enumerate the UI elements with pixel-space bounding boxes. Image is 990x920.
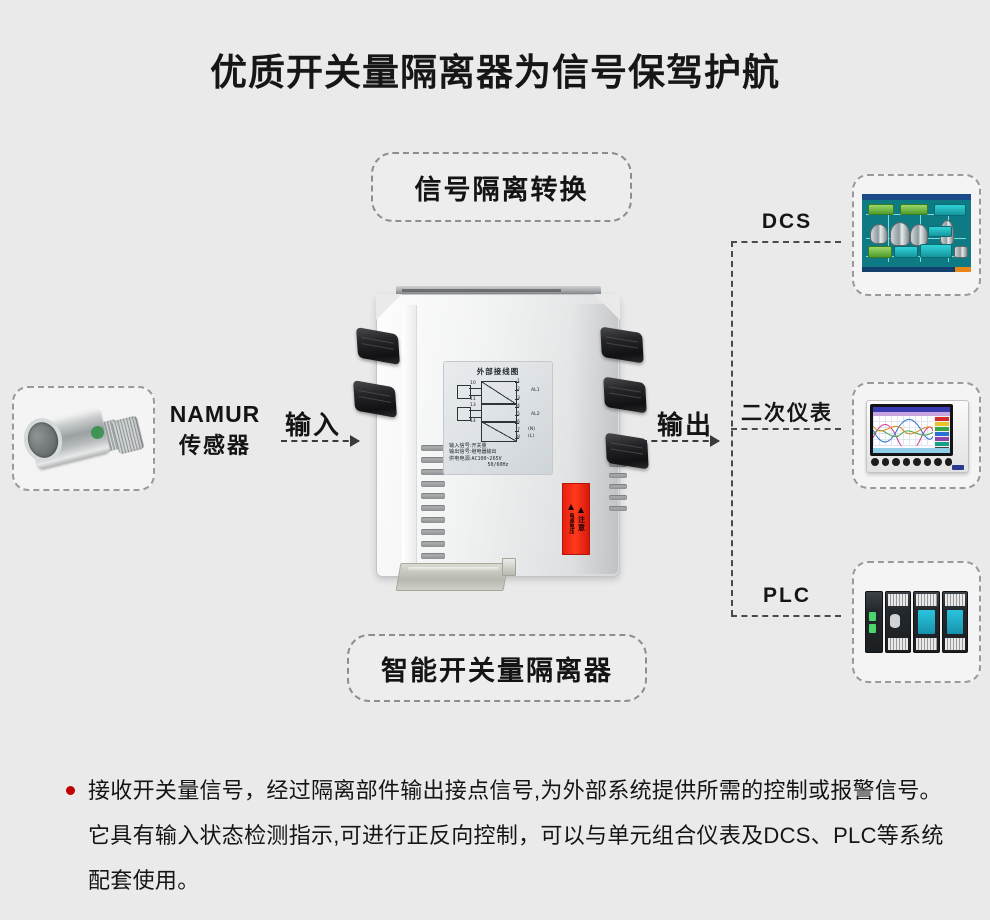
trend-curves-icon xyxy=(873,416,933,446)
isolator-device: 外部接线图 xyxy=(352,286,648,596)
dcs-statusbar xyxy=(862,267,971,272)
branch-line-plc xyxy=(731,615,841,617)
page-root: 优质开关量隔离器为信号保驾护航 信号隔离转换 智能开关量隔离器 NAMUR 传感… xyxy=(0,0,990,920)
arrow-head xyxy=(710,435,720,447)
output-arrow-icon xyxy=(641,440,719,442)
recorder-brand-badge xyxy=(952,465,964,470)
relay-box-1 xyxy=(481,381,517,405)
badge-signal-isolation-label: 信号隔离转换 xyxy=(415,168,589,207)
input-arrow-icon xyxy=(281,440,359,442)
branch-line-meter xyxy=(731,428,841,430)
relay-mark-al1: AL1 xyxy=(531,388,540,393)
branch-label-meter: 二次仪表 xyxy=(727,397,847,427)
badge-signal-isolation: 信号隔离转换 xyxy=(371,152,632,222)
recorder-keypad xyxy=(871,457,952,467)
branch-label-dcs: DCS xyxy=(731,210,843,234)
device-housing: 外部接线图 xyxy=(376,294,620,577)
page-title: 优质开关量隔离器为信号保驾护航 xyxy=(0,50,990,96)
plc-image xyxy=(852,561,981,683)
dcs-titlebar xyxy=(862,194,971,200)
plc-rack-illustration xyxy=(865,591,968,653)
arrow-shaft xyxy=(281,440,359,442)
recorder-legend xyxy=(934,416,950,450)
device-vents-left xyxy=(421,445,445,565)
din-rail-clip xyxy=(396,563,509,591)
din-rail-latch xyxy=(502,558,516,576)
spec-row: 50/60Hz xyxy=(449,462,547,468)
relay-box-3 xyxy=(481,421,517,442)
sensor-name: NAMUR 传感器 xyxy=(155,399,275,461)
pin-13: 13 xyxy=(470,403,476,408)
badge-smart-isolator-label: 智能开关量隔离器 xyxy=(381,649,613,688)
plc-module-3 xyxy=(942,591,968,653)
pin-14: 14 xyxy=(470,419,476,424)
warning-maintext: 注意 xyxy=(577,507,586,532)
branch-line-dcs xyxy=(731,241,841,243)
dcs-scada-illustration xyxy=(862,194,971,272)
relay-box-2 xyxy=(481,403,517,423)
device-specs: 输入信号:开关量 输出信号:继电器输出 供电电源:AC100~265V 50/6… xyxy=(449,443,547,469)
warning-triangle-icon xyxy=(568,504,574,510)
input-label: 输入 xyxy=(285,405,341,442)
wiring-diagram: 10 11 13 14 1 2 3 4 5 6 7 8 AL1 AL2 (N) xyxy=(449,379,547,441)
plc-module-1 xyxy=(885,591,911,653)
output-label: 输出 xyxy=(657,405,713,442)
device-left-edge xyxy=(402,305,417,573)
spec-key: 输出信号: xyxy=(449,449,472,455)
sensor-illustration xyxy=(14,388,153,489)
power-mark-l: (L) xyxy=(528,434,534,439)
trend-grid xyxy=(873,416,933,446)
description-bullet-icon xyxy=(66,786,75,795)
spec-value: AC100~265V xyxy=(472,456,502,462)
spec-key: 供电电源: xyxy=(449,456,472,462)
branch-label-plc: PLC xyxy=(731,584,843,608)
secondary-meter-image xyxy=(852,382,981,489)
pin-10: 10 xyxy=(470,381,476,386)
plc-module-cpu xyxy=(865,591,883,653)
sensor-name-en: NAMUR xyxy=(155,399,275,430)
arrow-shaft xyxy=(641,440,719,442)
spec-value: 继电器输出 xyxy=(472,449,497,455)
device-vents-right xyxy=(609,462,627,517)
wiring-label-title: 外部接线图 xyxy=(449,366,547,377)
namur-sensor-image xyxy=(12,386,155,491)
dcs-image xyxy=(852,174,981,296)
description-text: 接收开关量信号，经过隔离部件输出接点信号,为外部系统提供所需的控制或报警信号。它… xyxy=(88,768,948,903)
recorder-illustration xyxy=(866,400,969,473)
spec-value: 50/60Hz xyxy=(487,462,508,468)
warning-strip: 电源电压 注意 xyxy=(562,483,590,555)
recorder-screen xyxy=(873,407,950,453)
plc-module-2 xyxy=(913,591,939,653)
relay-mark-al2: AL2 xyxy=(531,412,540,417)
device-wiring-label: 外部接线图 xyxy=(443,361,553,475)
recorder-bezel xyxy=(870,404,953,456)
warning-subtext: 电源电压 xyxy=(567,504,576,534)
power-mark-n: (N) xyxy=(528,427,535,432)
pin-11: 11 xyxy=(470,397,476,402)
badge-smart-isolator: 智能开关量隔离器 xyxy=(347,634,647,702)
warning-triangle-icon xyxy=(578,507,584,513)
sensor-name-cn: 传感器 xyxy=(155,430,275,461)
